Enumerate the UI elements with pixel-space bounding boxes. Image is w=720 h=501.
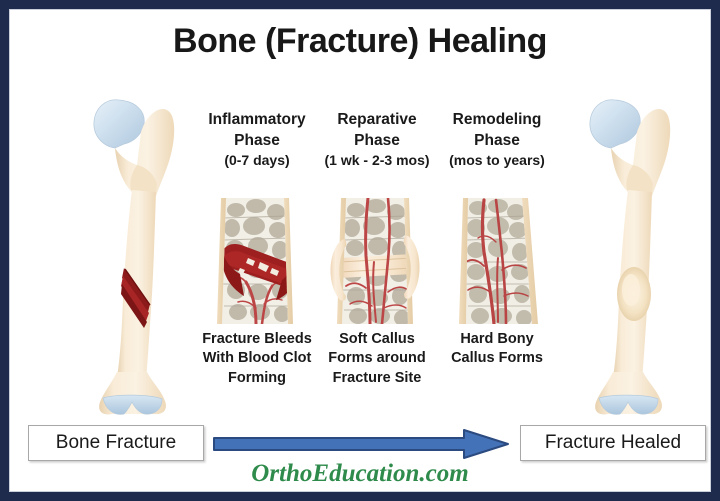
site-watermark: OrthoEducation.com <box>10 460 710 488</box>
phase-subtitle: Phase <box>354 132 400 149</box>
start-state-label: Bone Fracture <box>56 432 176 454</box>
healed-femur-icon <box>558 72 678 422</box>
hard-callus-panel-icon <box>440 196 550 331</box>
poster-inner: Bone (Fracture) Healing <box>9 9 711 492</box>
caption-line-1: Soft Callus <box>339 331 415 347</box>
phase-name: Remodeling <box>453 111 542 128</box>
end-state-label: Fracture Healed <box>545 432 681 454</box>
fractured-femur-icon <box>62 72 182 422</box>
phase-duration: (mos to years) <box>422 151 572 170</box>
phase-header-remodeling: Remodeling Phase (mos to years) <box>422 110 572 170</box>
hematoma-panel-icon <box>200 196 310 331</box>
caption-line-2: Forms around <box>328 350 425 366</box>
phase-subtitle: Phase <box>474 132 520 149</box>
start-state-box: Bone Fracture <box>28 425 204 461</box>
phase-name: Inflammatory <box>208 111 305 128</box>
caption-line-1: Fracture Bleeds <box>202 331 312 347</box>
caption-line-3: Forming <box>228 370 286 386</box>
page-title: Bone (Fracture) Healing <box>10 22 710 61</box>
caption-line-2: With Blood Clot <box>203 350 312 366</box>
caption-line-2: Callus Forms <box>451 350 543 366</box>
phase-caption-remodeling: Hard Bony Callus Forms <box>422 330 572 369</box>
poster-frame: Bone (Fracture) Healing <box>0 0 720 501</box>
caption-line-1: Hard Bony <box>460 331 533 347</box>
caption-line-3: Fracture Site <box>333 370 422 386</box>
soft-callus-panel-icon <box>320 196 430 331</box>
end-state-box: Fracture Healed <box>520 425 706 461</box>
phase-name: Reparative <box>337 111 416 128</box>
phase-subtitle: Phase <box>234 132 280 149</box>
